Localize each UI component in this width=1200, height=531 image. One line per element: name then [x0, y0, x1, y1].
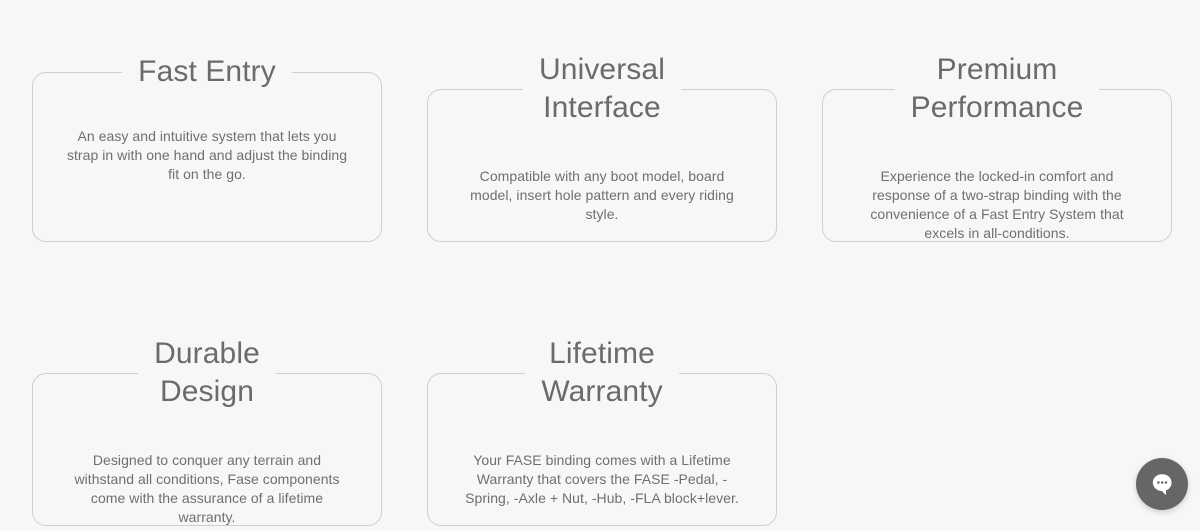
chat-launcher-button[interactable] [1136, 458, 1188, 510]
card-body: An easy and intuitive system that lets y… [33, 127, 381, 184]
card-title: Lifetime Warranty [525, 335, 678, 411]
feature-card-fast-entry: Fast Entry An easy and intuitive system … [32, 53, 382, 242]
card-body: Experience the locked-in comfort and res… [823, 167, 1171, 243]
feature-card-cell: Premium Performance Experience the locke… [822, 0, 1172, 242]
feature-card-cell: Durable Design Designed to conquer any t… [32, 284, 382, 526]
feature-card-cell: Lifetime Warranty Your FASE binding come… [427, 284, 777, 526]
page-root: Fast Entry An easy and intuitive system … [0, 0, 1200, 531]
card-title: Universal Interface [523, 51, 681, 127]
card-body: Your FASE binding comes with a Lifetime … [428, 451, 776, 508]
card-title: Fast Entry [122, 53, 292, 91]
card-body: Compatible with any boot model, board mo… [428, 167, 776, 224]
card-title: Durable Design [138, 335, 276, 411]
feature-card-cell: Fast Entry An easy and intuitive system … [32, 0, 382, 242]
card-title: Premium Performance [895, 51, 1100, 127]
chat-bubble-ellipsis-icon [1147, 469, 1177, 499]
feature-card-cell: Universal Interface Compatible with any … [427, 0, 777, 242]
feature-card-grid: Fast Entry An easy and intuitive system … [0, 0, 1200, 531]
feature-card-universal-interface: Universal Interface Compatible with any … [427, 51, 777, 242]
feature-card-premium-performance: Premium Performance Experience the locke… [822, 51, 1172, 242]
card-body: Designed to conquer any terrain and with… [33, 451, 381, 527]
feature-card-lifetime-warranty: Lifetime Warranty Your FASE binding come… [427, 335, 777, 526]
feature-card-durable-design: Durable Design Designed to conquer any t… [32, 335, 382, 526]
